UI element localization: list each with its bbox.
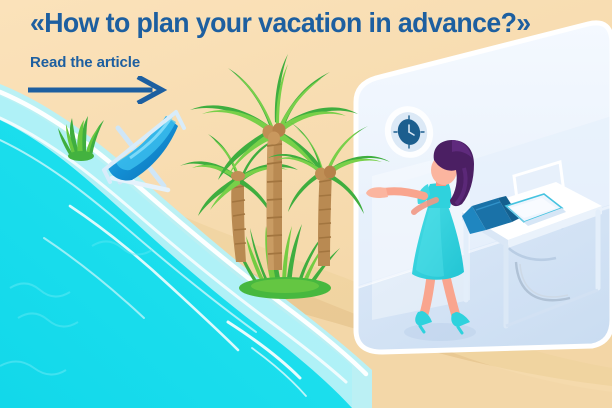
arrow-right-icon: [28, 76, 168, 104]
vacation-banner: «How to plan your vacation in advance?» …: [0, 0, 612, 408]
cta-label: Read the article: [30, 54, 140, 71]
page-title: «How to plan your vacation in advance?»: [30, 8, 583, 38]
read-article-link[interactable]: [28, 76, 168, 104]
